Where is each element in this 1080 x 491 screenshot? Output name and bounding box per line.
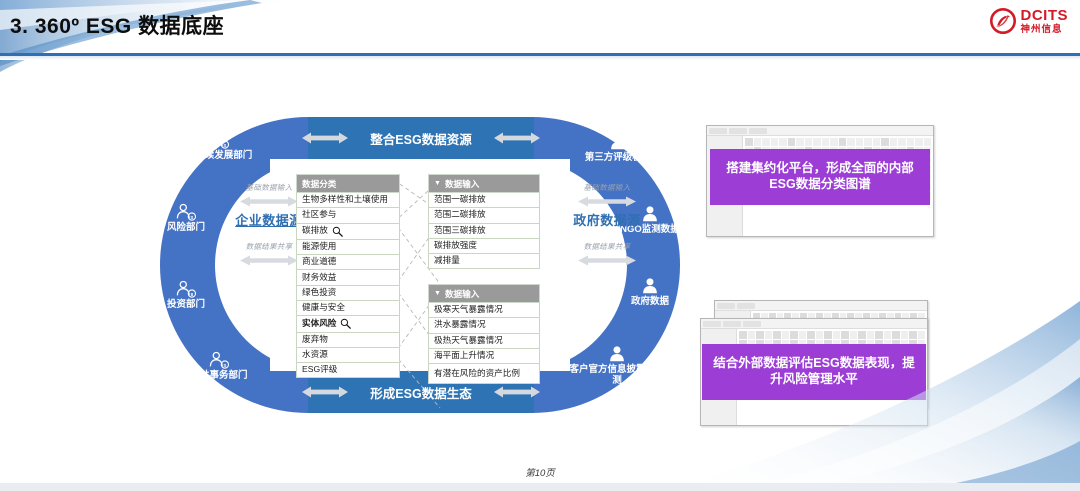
table-row[interactable]: 范围二碳排放 bbox=[428, 208, 540, 223]
table-row[interactable]: 生物多样性和土壤使用 bbox=[296, 193, 400, 208]
node-government-data[interactable]: 政府数据 bbox=[607, 277, 693, 308]
table-row[interactable]: 废弃物 bbox=[296, 333, 400, 348]
callout-text: 搭建集约化平台，形成全面的内部ESG数据分类图谱 bbox=[716, 161, 924, 192]
node-third-party-rating[interactable]: 第三方评级机构 bbox=[575, 133, 661, 164]
screenshot-tab bbox=[729, 128, 747, 134]
node-investment-dept[interactable]: 8 投资部门 bbox=[143, 280, 229, 311]
chevron-down-icon[interactable]: ▼ bbox=[434, 290, 441, 297]
screenshot-toolbar bbox=[715, 301, 927, 311]
screenshot-tab bbox=[709, 128, 727, 134]
person-icon bbox=[606, 345, 628, 364]
row-label: 范围三碳排放 bbox=[434, 226, 486, 236]
table-row[interactable]: 碳排放 bbox=[296, 224, 400, 240]
government-data-source-block: 基础数据输入 政府数据源 数据结果共享 bbox=[553, 182, 661, 269]
row-label: 水资源 bbox=[302, 350, 328, 360]
double-arrow-icon bbox=[240, 196, 298, 207]
callout-external-assessment: 结合外部数据评估ESG数据表现，提升风险管理水平 bbox=[700, 300, 940, 430]
node-label: 风险部门 bbox=[167, 222, 205, 233]
table-row[interactable]: 范围三碳排放 bbox=[428, 224, 540, 239]
row-label: 健康与安全 bbox=[302, 303, 345, 313]
government-top-flow-label: 基础数据输入 bbox=[553, 182, 661, 193]
diagram-stage: 整合ESG数据资源 形成ESG数据生态 bbox=[0, 62, 1080, 462]
person-badge-icon: S bbox=[208, 131, 230, 150]
row-label: 财务效益 bbox=[302, 273, 336, 283]
svg-text:S: S bbox=[223, 363, 226, 368]
double-arrow-icon bbox=[240, 255, 298, 266]
node-label: 客户官方信息披露及估测 bbox=[569, 364, 664, 386]
person-badge-icon: S bbox=[208, 351, 230, 370]
row-label: 有潜在风险的资产比例 bbox=[434, 369, 520, 379]
government-bottom-flow-label: 数据结果共享 bbox=[553, 241, 661, 252]
double-arrow-icon bbox=[302, 132, 348, 144]
company-logo: DCITS 神州信息 bbox=[990, 8, 1069, 35]
screenshot-toolbar bbox=[701, 319, 927, 329]
row-label: 商业道德 bbox=[302, 257, 336, 267]
table-row[interactable]: 社区参与 bbox=[296, 208, 400, 223]
row-label: 能源使用 bbox=[302, 242, 336, 252]
table-header-label: 数据输入 bbox=[445, 178, 479, 190]
double-arrow-icon bbox=[302, 386, 348, 398]
callout-banner: 搭建集约化平台，形成全面的内部ESG数据分类图谱 bbox=[710, 149, 930, 205]
row-label: 减排量 bbox=[434, 256, 460, 266]
magnifier-icon[interactable] bbox=[340, 318, 351, 329]
table-row[interactable]: 极热天气暴露情况 bbox=[428, 334, 540, 349]
row-label: 海平面上升情况 bbox=[434, 351, 494, 361]
screenshot-tab bbox=[717, 303, 735, 309]
chevron-down-icon[interactable]: ▼ bbox=[434, 180, 441, 187]
row-label: 范围一碳排放 bbox=[434, 195, 486, 205]
table-header-label: 数据分类 bbox=[302, 178, 336, 190]
government-data-source-title: 政府数据源 bbox=[553, 210, 661, 229]
table-row[interactable]: 洪水暴露情况 bbox=[428, 318, 540, 333]
svg-text:S: S bbox=[223, 143, 226, 148]
node-label: 可持续发展部门 bbox=[186, 150, 253, 161]
node-label: 政府数据 bbox=[631, 296, 669, 307]
svg-text:S: S bbox=[190, 215, 193, 220]
row-label: 碳排放 bbox=[302, 226, 328, 236]
row-label: 实体风险 bbox=[302, 319, 336, 329]
page-title: 3. 360º ESG 数据底座 bbox=[10, 10, 224, 40]
screenshot-tab bbox=[723, 321, 741, 327]
footer-strip bbox=[0, 483, 1080, 491]
person-badge-icon: 8 bbox=[175, 280, 197, 299]
logo-brand-text: DCITS bbox=[1021, 8, 1069, 23]
double-arrow-icon bbox=[578, 255, 636, 266]
data-classification-table: 数据分类 生物多样性和土壤使用 社区参与 碳排放 能源使用 商业道德 财务效益 … bbox=[296, 174, 400, 378]
node-label: 投资部门 bbox=[167, 299, 205, 310]
person-icon bbox=[639, 277, 661, 296]
callout-text: 结合外部数据评估ESG数据表现，提升风险管理水平 bbox=[708, 356, 920, 387]
row-label: 极寒天气暴露情况 bbox=[434, 305, 503, 315]
row-label: 碳排放强度 bbox=[434, 241, 477, 251]
physical-risk-data-input-table: ▼ 数据输入 极寒天气暴露情况 洪水暴露情况 极热天气暴露情况 海平面上升情况 … bbox=[428, 284, 540, 384]
table-row[interactable]: 碳排放强度 bbox=[428, 239, 540, 254]
magnifier-icon[interactable] bbox=[332, 226, 343, 237]
screenshot-tab bbox=[737, 303, 755, 309]
table-row[interactable]: 范围一碳排放 bbox=[428, 193, 540, 208]
row-label: ESG评级 bbox=[302, 365, 337, 375]
double-arrow-icon bbox=[578, 196, 636, 207]
row-label: 社区参与 bbox=[302, 210, 336, 220]
logo-brand-cn-text: 神州信息 bbox=[1021, 25, 1069, 35]
table-row[interactable]: ESG评级 bbox=[296, 363, 400, 378]
page-footer: 第10页 bbox=[0, 465, 1080, 479]
double-arrow-icon bbox=[494, 132, 540, 144]
table-row[interactable]: 绿色投资 bbox=[296, 286, 400, 301]
screenshot-tab bbox=[743, 321, 761, 327]
row-label: 废弃物 bbox=[302, 335, 328, 345]
table-header: ▼ 数据输入 bbox=[428, 284, 540, 303]
callout-internal-platform: 搭建集约化平台，形成全面的内部ESG数据分类图谱 bbox=[706, 125, 934, 237]
table-header: 数据分类 bbox=[296, 174, 400, 193]
band-integrate-label: 整合ESG数据资源 bbox=[370, 129, 471, 148]
table-row[interactable]: 极寒天气暴露情况 bbox=[428, 303, 540, 318]
row-label: 生物多样性和土壤使用 bbox=[302, 195, 388, 205]
band-integrate: 整合ESG数据资源 bbox=[308, 117, 534, 159]
table-header-label: 数据输入 bbox=[445, 288, 479, 300]
table-row[interactable]: 水资源 bbox=[296, 348, 400, 363]
node-sustainability-dept[interactable]: S 可持续发展部门 bbox=[176, 131, 262, 162]
screenshot-tab bbox=[749, 128, 767, 134]
table-row[interactable]: 海平面上升情况 bbox=[428, 349, 540, 364]
table-row[interactable]: 实体风险 bbox=[296, 316, 400, 332]
table-header: ▼ 数据输入 bbox=[428, 174, 540, 193]
row-label: 绿色投资 bbox=[302, 288, 336, 298]
svg-text:8: 8 bbox=[191, 292, 194, 297]
band-ecosystem-label: 形成ESG数据生态 bbox=[370, 383, 471, 402]
table-row[interactable]: 有潜在风险的资产比例 bbox=[428, 364, 540, 384]
table-row[interactable]: 商业道德 bbox=[296, 255, 400, 270]
dcits-swirl-logo-icon bbox=[990, 8, 1016, 34]
node-label: 公共事务部门 bbox=[190, 370, 247, 381]
person-badge-icon: S bbox=[175, 203, 197, 222]
table-row[interactable]: 能源使用 bbox=[296, 240, 400, 255]
screenshot-tab bbox=[703, 321, 721, 327]
row-label: 极热天气暴露情况 bbox=[434, 336, 503, 346]
table-row[interactable]: 财务效益 bbox=[296, 270, 400, 285]
person-icon bbox=[607, 133, 629, 152]
node-client-disclosure[interactable]: 客户官方信息披露及估测 bbox=[569, 345, 665, 386]
slide-header: 3. 360º ESG 数据底座 DCITS 神州信息 bbox=[0, 0, 1080, 56]
row-label: 洪水暴露情况 bbox=[434, 320, 486, 330]
slide-canvas: 3. 360º ESG 数据底座 DCITS 神州信息 bbox=[0, 0, 1080, 491]
callout-banner: 结合外部数据评估ESG数据表现，提升风险管理水平 bbox=[702, 344, 926, 400]
screenshot-toolbar bbox=[707, 126, 933, 136]
double-arrow-icon bbox=[494, 386, 540, 398]
node-label: 第三方评级机构 bbox=[585, 152, 652, 163]
table-row[interactable]: 健康与安全 bbox=[296, 301, 400, 316]
carbon-data-input-table: ▼ 数据输入 范围一碳排放 范围二碳排放 范围三碳排放 碳排放强度 减排量 bbox=[428, 174, 540, 269]
row-label: 范围二碳排放 bbox=[434, 210, 486, 220]
table-row[interactable]: 减排量 bbox=[428, 254, 540, 269]
page-number: 第10页 bbox=[525, 468, 555, 479]
title-divider-soft bbox=[0, 56, 1080, 60]
node-public-affairs-dept[interactable]: S 公共事务部门 bbox=[176, 351, 262, 382]
